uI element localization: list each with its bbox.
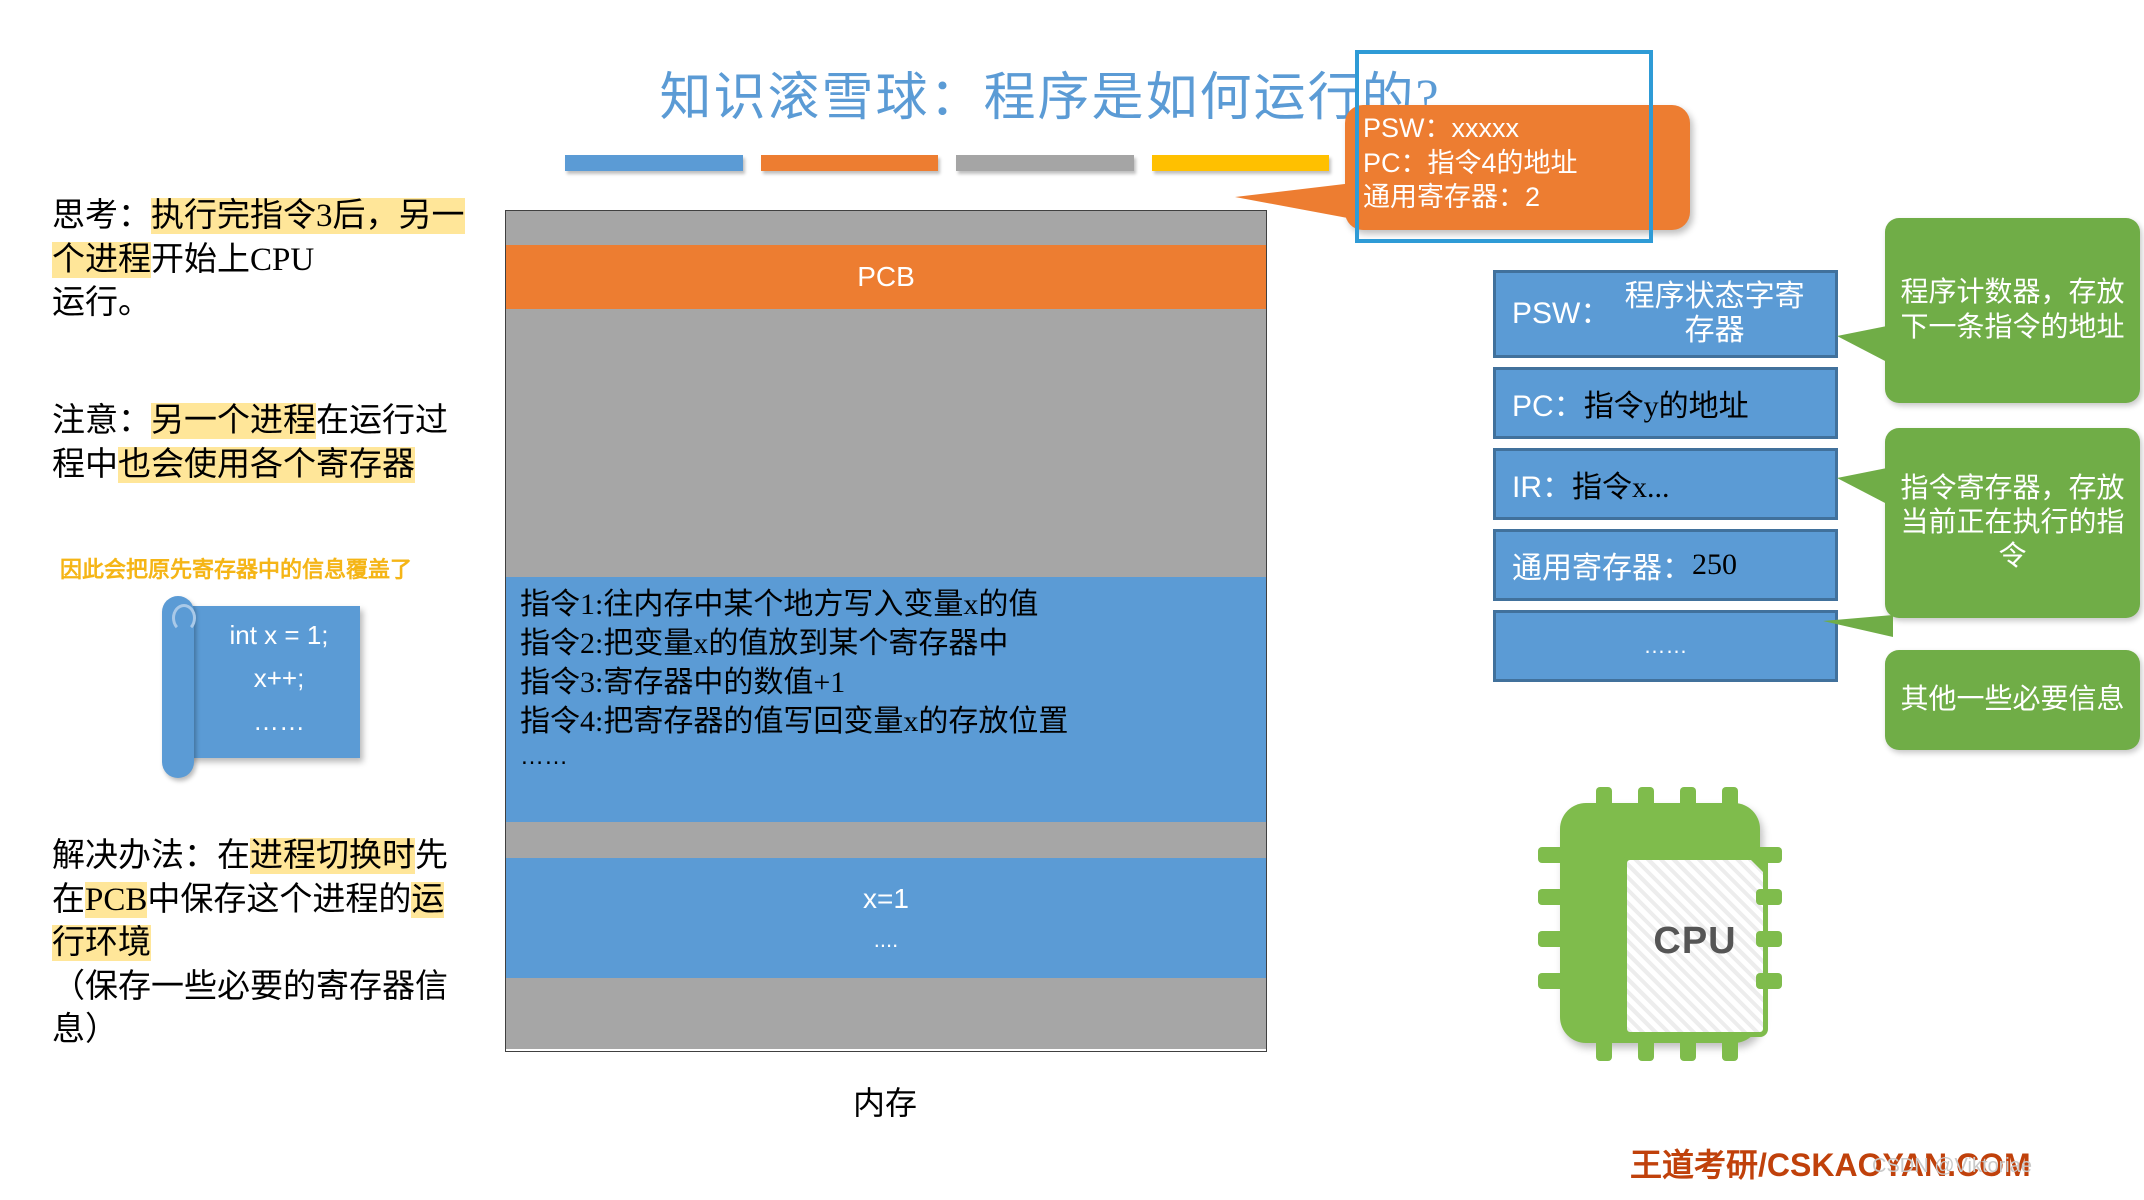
pcb-label: PCB — [506, 245, 1266, 309]
instruction-line-4: 指令4:把寄存器的值写回变量x的存放位置 — [520, 702, 1252, 741]
note-solution-seg7: （保存一些必要的寄存器信息） — [52, 969, 448, 1049]
callout-tail — [1235, 183, 1353, 219]
cpu-chip-icon: CPU — [1530, 785, 1790, 1065]
note-solution: 解决办法：在进程切换时先在PCB中保存这个进程的运行环境（保存一些必要的寄存器信… — [52, 835, 472, 1053]
title-bar-2 — [761, 155, 939, 171]
memory-band-bottom-gray — [506, 978, 1266, 1049]
scroll-roller — [162, 596, 194, 778]
memory-band-top-gray — [506, 211, 1266, 245]
register-gp-key: 通用寄存器： — [1512, 543, 1692, 587]
memory-caption: 内存 — [505, 1078, 1265, 1124]
note-attention-seg3: 也会使用各个寄存器 — [118, 447, 415, 483]
cpu-pin-right-4 — [1756, 973, 1782, 989]
cpu-pin-left-2 — [1538, 889, 1564, 905]
register-psw-value: 程序状态字寄存器 — [1610, 280, 1819, 349]
note-think: 思考：执行完指令3后，另一个进程开始上CPU运行。 — [52, 195, 472, 326]
cpu-pin-bottom-3 — [1680, 1037, 1696, 1061]
cpu-pin-top-3 — [1680, 787, 1696, 811]
cpu-pin-left-3 — [1538, 931, 1564, 947]
title-bar-3 — [956, 155, 1134, 171]
watermark-text: CSDN @Viktoriae — [1872, 1155, 2032, 1178]
cpu-pin-bottom-2 — [1638, 1037, 1654, 1061]
cpu-chip-label: CPU — [1627, 920, 1763, 963]
callout-pc-description: 程序计数器，存放下一条指令的地址 — [1885, 218, 2140, 403]
memory-band-pcb: PCB — [506, 245, 1266, 309]
memory-band-instructions: 指令1:往内存中某个地方写入变量x的值 指令2:把变量x的值放到某个寄存器中 指… — [506, 577, 1266, 822]
register-psw-key: PSW： — [1512, 297, 1610, 332]
memory-data-more: .... — [874, 927, 898, 953]
callout-other-tail — [1823, 615, 1893, 637]
callout-other-description: 其他一些必要信息 — [1885, 650, 2140, 750]
note-overwrite-warning: 因此会把原先寄存器中的信息覆盖了 — [60, 552, 580, 584]
callout-pc-text: 程序计数器，存放下一条指令的地址 — [1899, 276, 2126, 344]
register-gp-value: 250 — [1692, 548, 1737, 582]
memory-band-data: x=1 .... — [506, 858, 1266, 978]
register-pc: PC：指令y的地址 — [1493, 367, 1838, 439]
instruction-line-3: 指令3:寄存器中的数值+1 — [520, 663, 1252, 702]
register-general-purpose: 通用寄存器：250 — [1493, 529, 1838, 601]
note-solution-seg5: 中保存这个进程的 — [147, 882, 411, 918]
register-psw: PSW：程序状态字寄存器 — [1493, 270, 1838, 358]
note-think-seg1: 执行完指令3后， — [151, 198, 399, 234]
cpu-chip-die: CPU — [1622, 855, 1768, 1037]
code-line-2: x++; — [204, 657, 354, 700]
note-solution-label: 解决办法： — [52, 838, 217, 874]
cpu-pin-right-3 — [1756, 931, 1782, 947]
note-solution-seg1: 在 — [217, 838, 250, 874]
code-line-3: …… — [204, 700, 354, 743]
register-ir-value: 指令x... — [1572, 462, 1670, 506]
cpu-chip-body: CPU — [1560, 803, 1760, 1043]
register-more: …… — [1493, 610, 1838, 682]
title-bar-1 — [565, 155, 743, 171]
register-ir-key: IR： — [1512, 462, 1572, 506]
memory-data-value: x=1 — [863, 883, 909, 915]
highlight-frame — [1355, 50, 1653, 243]
note-attention: 注意：另一个进程在运行过程中也会使用各个寄存器 — [52, 400, 472, 487]
title-bar-4 — [1152, 155, 1330, 171]
instruction-line-more: …… — [520, 741, 1252, 772]
note-solution-seg4: PCB — [85, 882, 147, 918]
register-more-value: …… — [1644, 633, 1688, 659]
cpu-pin-bottom-4 — [1722, 1037, 1738, 1061]
memory-band-gray-sep — [506, 822, 1266, 858]
note-think-seg3: 开始上CPU — [151, 242, 314, 278]
cpu-pin-right-1 — [1756, 847, 1782, 863]
cpu-pin-top-1 — [1596, 787, 1612, 811]
cpu-pin-right-2 — [1756, 889, 1782, 905]
scroll-roller-hole — [172, 604, 196, 632]
callout-pc-tail — [1837, 326, 1887, 362]
cpu-pin-bottom-1 — [1596, 1037, 1612, 1061]
cpu-pin-top-4 — [1722, 787, 1738, 811]
register-ir: IR：指令x... — [1493, 448, 1838, 520]
callout-ir-text: 指令寄存器，存放当前正在执行的指令 — [1899, 472, 2126, 574]
cpu-pin-top-2 — [1638, 787, 1654, 811]
code-scroll-graphic: int x = 1; x++; …… — [160, 596, 360, 776]
code-lines: int x = 1; x++; …… — [204, 614, 354, 743]
note-think-label: 思考： — [52, 198, 151, 234]
callout-ir-description: 指令寄存器，存放当前正在执行的指令 — [1885, 428, 2140, 618]
callout-ir-tail — [1837, 468, 1887, 504]
note-attention-label: 注意： — [52, 403, 151, 439]
note-attention-seg1: 另一个进程 — [151, 403, 316, 439]
note-solution-seg2: 进程切换时 — [250, 838, 415, 874]
register-pc-key: PC： — [1512, 381, 1584, 425]
slide-canvas: 知识滚雪球：程序是如何运行的? 思考：执行完指令3后，另一个进程开始上CPU运行… — [0, 0, 2144, 1200]
callout-other-text: 其他一些必要信息 — [1900, 683, 2124, 717]
code-line-1: int x = 1; — [204, 614, 354, 657]
cpu-pin-left-1 — [1538, 847, 1564, 863]
memory-band-gray-middle — [506, 309, 1266, 577]
note-think-seg4: 运行。 — [52, 285, 151, 321]
cpu-register-stack: PSW：程序状态字寄存器 PC：指令y的地址 IR：指令x... 通用寄存器：2… — [1493, 270, 1838, 691]
instruction-line-1: 指令1:往内存中某个地方写入变量x的值 — [520, 585, 1252, 624]
memory-diagram: PCB 指令1:往内存中某个地方写入变量x的值 指令2:把变量x的值放到某个寄存… — [505, 210, 1267, 1052]
instruction-line-2: 指令2:把变量x的值放到某个寄存器中 — [520, 624, 1252, 663]
register-pc-value: 指令y的地址 — [1584, 381, 1749, 425]
cpu-pin-left-4 — [1538, 973, 1564, 989]
